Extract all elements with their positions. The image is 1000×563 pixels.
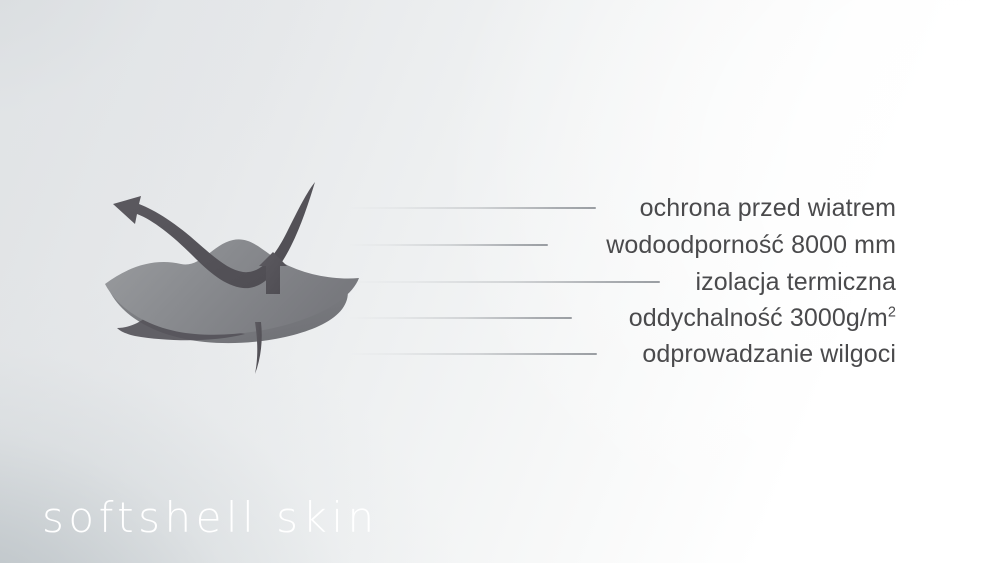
callout-label-waterproofing: wodoodporność 8000 mm <box>606 233 896 258</box>
wordmark-softshell-skin: softshell skin <box>42 497 379 539</box>
callout-waterproofing: wodoodporność 8000 mm <box>0 227 896 263</box>
callout-thermal-insulation: izolacja termiczna <box>0 264 896 300</box>
callout-moisture-wicking: odprowadzanie wilgoci <box>0 336 896 372</box>
leader-line-breathability <box>348 317 572 319</box>
callout-label-thermal-insulation: izolacja termiczna <box>696 270 896 295</box>
leader-line-moisture-wicking <box>348 353 597 355</box>
callout-wind-protection: ochrona przed wiatrem <box>0 190 896 226</box>
leader-line-thermal-insulation <box>348 281 660 283</box>
callout-label-breathability: oddychalność 3000g/m2 <box>629 306 896 331</box>
leader-line-waterproofing <box>348 244 548 246</box>
softshell-skin-infographic: ochrona przed wiatrem wodoodporność 8000… <box>0 0 1000 563</box>
leader-line-wind-protection <box>348 207 596 209</box>
callout-label-moisture-wicking: odprowadzanie wilgoci <box>642 342 896 367</box>
callout-label-wind-protection: ochrona przed wiatrem <box>640 196 896 221</box>
callout-breathability: oddychalność 3000g/m2 <box>0 300 896 336</box>
callout-label-breathability-text: oddychalność 3000g/m <box>629 304 888 332</box>
callout-label-breathability-superscript: 2 <box>888 304 896 320</box>
callout-list: ochrona przed wiatrem wodoodporność 8000… <box>0 0 1000 563</box>
